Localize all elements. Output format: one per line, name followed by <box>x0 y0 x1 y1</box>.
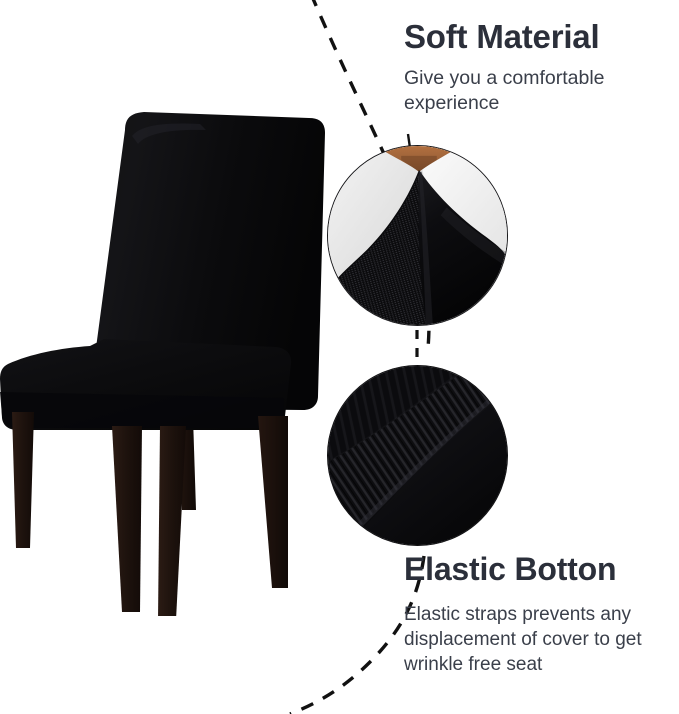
chair-leg-front-right <box>112 426 142 612</box>
feature-block-soft-material: Soft Material Give you a comfortable exp… <box>404 16 679 116</box>
feature-block-elastic-bottom: Elastic Botton Elastic straps prevents a… <box>404 549 679 677</box>
feature-body-elastic-bottom: Elastic straps prevents any displacement… <box>404 602 679 677</box>
product-chair-image <box>0 96 330 616</box>
detail-circle-elastic-bottom <box>327 365 508 546</box>
infographic-canvas: Soft Material Give you a comfortable exp… <box>0 0 679 714</box>
chair-leg-rear-left <box>258 416 288 588</box>
elastic-bottom-closeup <box>328 366 507 545</box>
chair-illustration <box>0 96 330 616</box>
feature-body-soft-material: Give you a comfortable experience <box>404 66 679 116</box>
chair-leg-front-left <box>12 412 34 548</box>
soft-material-closeup <box>328 146 507 325</box>
chair-leg-center <box>158 426 186 616</box>
feature-heading-elastic-bottom: Elastic Botton <box>404 549 679 590</box>
detail-circle-soft-material <box>327 145 508 326</box>
feature-heading-soft-material: Soft Material <box>404 16 679 57</box>
chair-seat-front-lip <box>0 392 284 428</box>
